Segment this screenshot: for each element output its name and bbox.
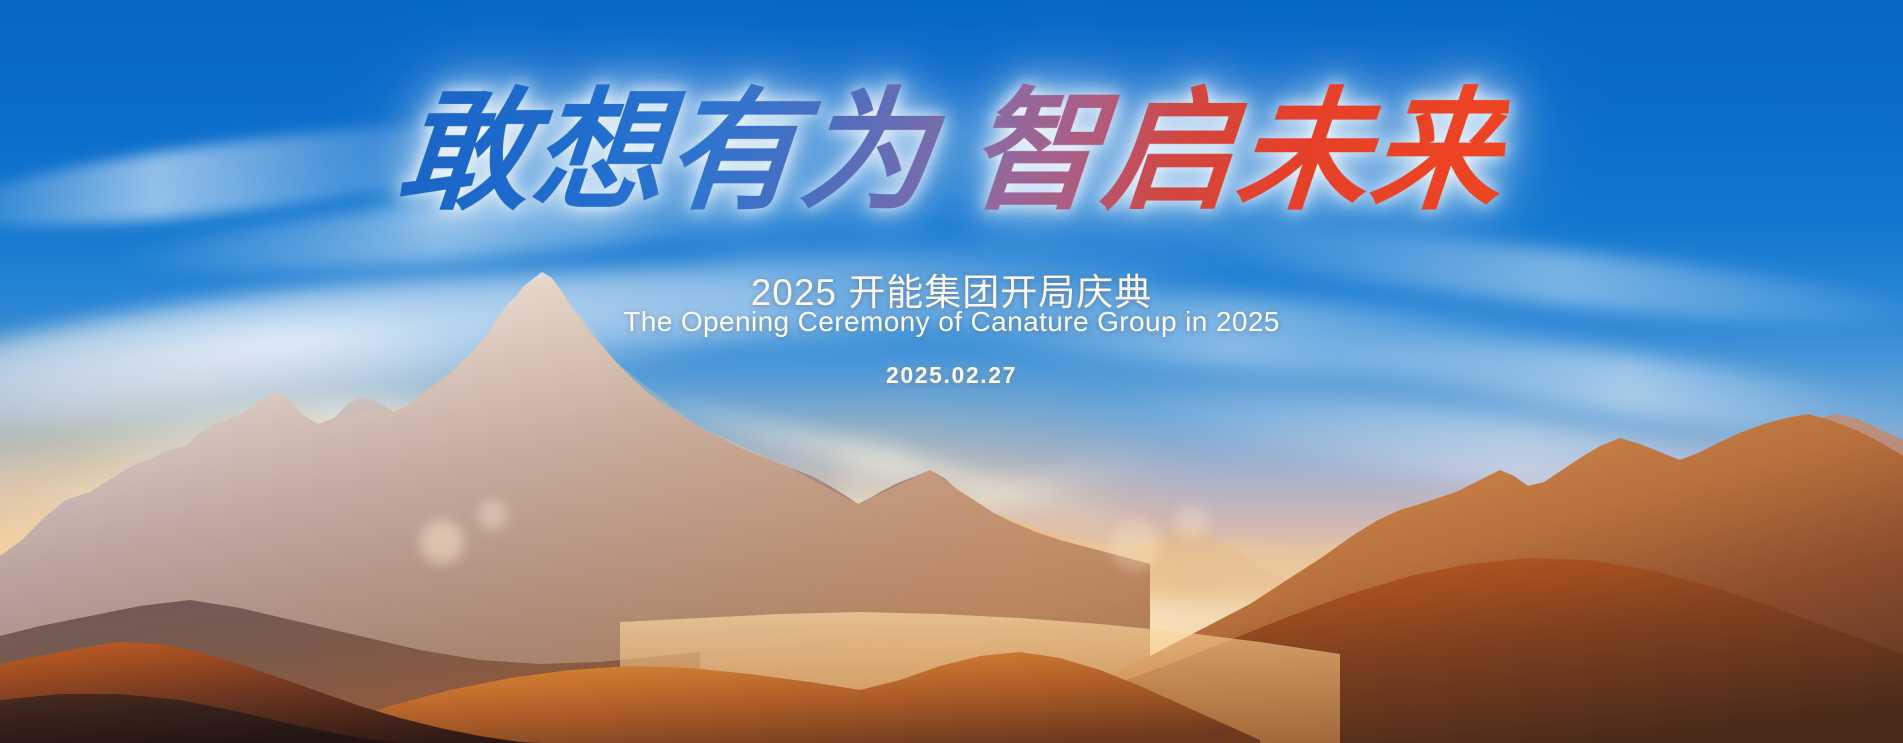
title-block: 敢想有为智启未来 — [0, 78, 1903, 226]
event-date: 2025.02.27 — [0, 362, 1903, 389]
calligraphy-phrase-2: 智启未来 — [962, 74, 1512, 229]
calligraphy-phrase-1: 敢想有为 — [392, 74, 942, 229]
event-banner: 敢想有为智启未来 2025 开能集团开局庆典 The Opening Cerem… — [0, 0, 1903, 743]
lens-flare-3 — [1110, 520, 1160, 570]
subtitle-english: The Opening Ceremony of Canature Group i… — [0, 306, 1903, 338]
lens-flare-1 — [420, 520, 464, 564]
calligraphy-headline: 敢想有为智启未来 — [392, 78, 1511, 226]
lens-flare-4 — [1175, 505, 1209, 539]
lens-flare-2 — [478, 500, 508, 530]
